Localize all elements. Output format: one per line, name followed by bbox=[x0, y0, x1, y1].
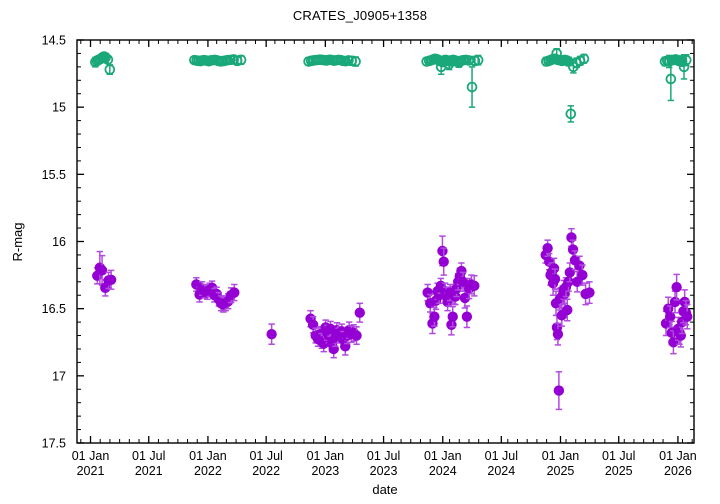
plot-frame bbox=[77, 40, 694, 443]
data-point[interactable] bbox=[682, 55, 691, 66]
open-circle-marker[interactable] bbox=[351, 57, 360, 66]
data-point[interactable] bbox=[355, 303, 364, 322]
x-tick-label-year: 2021 bbox=[77, 464, 105, 478]
x-tick-label-day: 01 Jan bbox=[424, 449, 462, 463]
x-tick-label-year: 2021 bbox=[135, 464, 163, 478]
x-tick-label-day: 01 Jan bbox=[542, 449, 580, 463]
data-point[interactable] bbox=[105, 65, 114, 74]
open-circle-marker[interactable] bbox=[103, 55, 112, 64]
x-tick-label-year: 2023 bbox=[370, 464, 398, 478]
y-tick-label: 15 bbox=[52, 101, 66, 115]
y-tick-label: 17.5 bbox=[42, 437, 66, 451]
filled-circle-marker[interactable] bbox=[355, 308, 364, 317]
open-circle-marker[interactable] bbox=[237, 55, 246, 64]
axis-labels-layer: 14.51515.51616.51717.501 Jan202101 Jul20… bbox=[42, 34, 697, 479]
filled-circle-marker[interactable] bbox=[672, 283, 681, 292]
filled-circle-marker[interactable] bbox=[550, 275, 559, 284]
series-target-blazar[interactable] bbox=[93, 229, 692, 410]
x-tick-label-year: 2022 bbox=[194, 464, 222, 478]
data-series-layer[interactable] bbox=[91, 49, 692, 410]
x-tick-label-day: 01 Jan bbox=[72, 449, 110, 463]
y-tick-label: 15.5 bbox=[42, 168, 66, 182]
filled-circle-marker[interactable] bbox=[457, 266, 466, 275]
data-point[interactable] bbox=[267, 324, 276, 344]
x-tick-label-day: 01 Jul bbox=[132, 449, 165, 463]
filled-circle-marker[interactable] bbox=[554, 386, 563, 395]
filled-circle-marker[interactable] bbox=[666, 312, 675, 321]
filled-circle-marker[interactable] bbox=[683, 312, 692, 321]
filled-circle-marker[interactable] bbox=[670, 297, 679, 306]
y-tick-label: 17 bbox=[52, 369, 66, 383]
light-curve-plot: 14.51515.51616.51717.501 Jan202101 Jul20… bbox=[0, 0, 720, 504]
filled-circle-marker[interactable] bbox=[669, 338, 678, 347]
filled-circle-marker[interactable] bbox=[470, 281, 479, 290]
open-circle-marker[interactable] bbox=[580, 54, 589, 63]
x-tick-label-day: 01 Jan bbox=[659, 449, 697, 463]
open-circle-marker[interactable] bbox=[682, 56, 691, 65]
filled-circle-marker[interactable] bbox=[553, 330, 562, 339]
x-tick-label-year: 2024 bbox=[429, 464, 457, 478]
axis-ticks-layer bbox=[77, 40, 694, 443]
chart-figure: CRATES_J0905+1358 14.51515.51616.51717.5… bbox=[0, 0, 720, 504]
filled-circle-marker[interactable] bbox=[676, 331, 685, 340]
data-point[interactable] bbox=[237, 55, 246, 64]
filled-circle-marker[interactable] bbox=[578, 270, 587, 279]
data-point[interactable] bbox=[351, 57, 360, 66]
x-tick-label-day: 01 Jan bbox=[189, 449, 227, 463]
filled-circle-marker[interactable] bbox=[448, 312, 457, 321]
series-comparison-star[interactable] bbox=[91, 49, 691, 122]
data-point[interactable] bbox=[672, 274, 681, 300]
x-axis-label: date bbox=[372, 482, 397, 497]
open-circle-marker[interactable] bbox=[474, 56, 483, 65]
x-tick-label-day: 01 Jul bbox=[367, 449, 400, 463]
x-tick-label-year: 2024 bbox=[487, 464, 515, 478]
data-point[interactable] bbox=[554, 372, 563, 410]
y-tick-label: 16.5 bbox=[42, 302, 66, 316]
filled-circle-marker[interactable] bbox=[543, 244, 552, 253]
filled-circle-marker[interactable] bbox=[462, 312, 471, 321]
filled-circle-marker[interactable] bbox=[352, 331, 361, 340]
filled-circle-marker[interactable] bbox=[97, 266, 106, 275]
filled-circle-marker[interactable] bbox=[568, 245, 577, 254]
data-point[interactable] bbox=[103, 55, 112, 64]
filled-circle-marker[interactable] bbox=[430, 312, 439, 321]
data-point[interactable] bbox=[566, 106, 575, 122]
filled-circle-marker[interactable] bbox=[563, 305, 572, 314]
x-tick-label-year: 2025 bbox=[547, 464, 575, 478]
data-point[interactable] bbox=[567, 229, 576, 246]
data-point[interactable] bbox=[462, 306, 471, 327]
x-tick-label-year: 2025 bbox=[605, 464, 633, 478]
filled-circle-marker[interactable] bbox=[439, 257, 448, 266]
x-tick-label-day: 01 Jan bbox=[307, 449, 345, 463]
x-tick-label-day: 01 Jul bbox=[485, 449, 518, 463]
x-tick-label-day: 01 Jul bbox=[602, 449, 635, 463]
open-circle-marker[interactable] bbox=[468, 83, 477, 92]
y-tick-label: 14.5 bbox=[42, 34, 66, 48]
x-tick-label-year: 2023 bbox=[311, 464, 339, 478]
filled-circle-marker[interactable] bbox=[585, 288, 594, 297]
x-tick-label-year: 2026 bbox=[664, 464, 692, 478]
y-axis-label: R-mag bbox=[10, 222, 25, 261]
filled-circle-marker[interactable] bbox=[230, 288, 239, 297]
data-point[interactable] bbox=[580, 54, 589, 63]
filled-circle-marker[interactable] bbox=[267, 330, 276, 339]
y-tick-label: 16 bbox=[52, 235, 66, 249]
x-tick-label-day: 01 Jul bbox=[249, 449, 282, 463]
data-point[interactable] bbox=[474, 55, 483, 64]
open-circle-marker[interactable] bbox=[105, 65, 114, 74]
filled-circle-marker[interactable] bbox=[106, 275, 115, 284]
data-point[interactable] bbox=[468, 67, 477, 107]
x-tick-label-year: 2022 bbox=[252, 464, 280, 478]
open-circle-marker[interactable] bbox=[666, 75, 675, 84]
open-circle-marker[interactable] bbox=[566, 109, 575, 118]
